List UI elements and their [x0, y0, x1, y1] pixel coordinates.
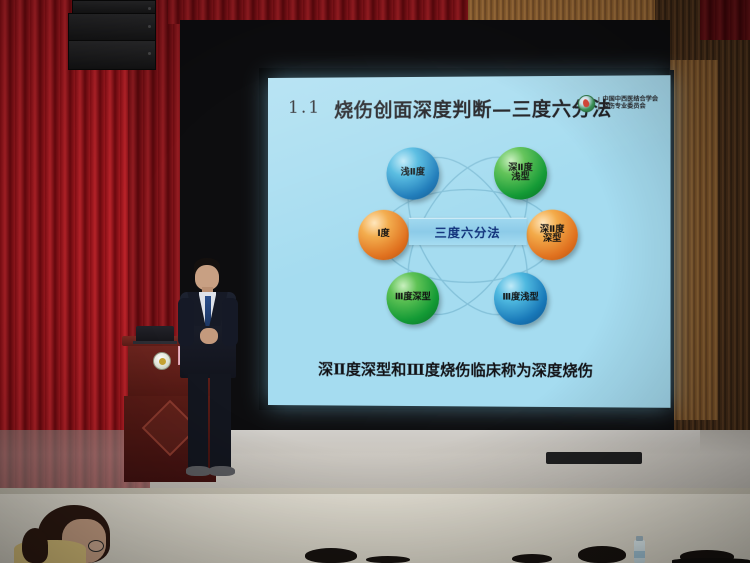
presenter-leg-left: [188, 374, 208, 470]
water-bottle-label: [634, 551, 645, 558]
node-3-du-qian-label: Ⅲ度浅型: [502, 294, 538, 304]
society-emblem-icon: [578, 95, 595, 112]
node-qian-2-du: 浅Ⅱ度: [387, 147, 440, 199]
presenter-shoe-right: [209, 466, 235, 476]
audience-member-2: [366, 556, 410, 563]
audience-shoulder-right: [672, 558, 750, 563]
institution-emblem: [153, 352, 171, 370]
slide-section-number: 1.1: [288, 98, 321, 118]
node-1-du-label: Ⅰ度: [377, 230, 389, 239]
audience-glasses-icon: [88, 540, 104, 552]
stage-floor-reflection: [180, 430, 700, 452]
node-3-du-shen-label: Ⅲ度深型: [395, 294, 431, 304]
presenter-laptop: [136, 326, 174, 342]
three-degree-six-type-diagram: 浅Ⅱ度 深Ⅱ度 浅型 深Ⅱ度 深型 Ⅰ度 Ⅲ度深型 Ⅲ度浅型: [352, 145, 584, 327]
presenter-shoe-left: [186, 466, 211, 476]
society-logo: 中国中西医结合学会 烧伤专业委员会: [578, 95, 658, 113]
node-shen-2-du-qian: 深Ⅱ度 浅型: [494, 147, 547, 200]
presenter-hands: [200, 328, 218, 344]
line-array-speaker-bottom: [68, 40, 156, 70]
slide-caption: 深Ⅱ度深型和Ⅲ度烧伤临床称为深度烧伤: [318, 358, 593, 381]
presenter: [176, 258, 248, 488]
society-logo-line2: 烧伤专业委员会: [602, 103, 658, 110]
diagram-center-banner: 三度六分法: [409, 218, 527, 245]
stage-floor-shadow-strip: [546, 452, 642, 464]
audience-member-4: [578, 546, 626, 563]
node-3-du-shen: Ⅲ度深型: [387, 272, 440, 324]
audience-member-woman-ponytail: [22, 528, 48, 563]
node-1-du: Ⅰ度: [358, 210, 408, 260]
node-shen-2-du-qian-label: 深Ⅱ度 浅型: [508, 164, 532, 183]
society-logo-text: 中国中西医结合学会 烧伤专业委员会: [602, 97, 658, 110]
node-shen-2-du-shen-label: 深Ⅱ度 深型: [540, 225, 565, 244]
water-bottle-cap: [636, 536, 643, 541]
logo-divider: [598, 97, 599, 110]
node-3-du-qian: Ⅲ度浅型: [494, 272, 547, 325]
photo-scene: 1.1 烧伤创面深度判断—三度六分法 中国中西医结合学会 烧伤专业委员会: [0, 0, 750, 563]
presentation-screen: 1.1 烧伤创面深度判断—三度六分法 中国中西医结合学会 烧伤专业委员会: [268, 75, 671, 408]
audience-member-3: [512, 554, 552, 563]
stage-apron-edge: [0, 488, 750, 494]
presenter-leg-right: [210, 374, 231, 470]
diagram-center-label: 三度六分法: [435, 223, 501, 240]
line-array-speaker-middle: [68, 13, 156, 43]
slide-title: 烧伤创面深度判断—三度六分法: [334, 94, 612, 123]
presenter-arm-right: [222, 298, 238, 346]
stage-curtain-right: [700, 0, 750, 40]
node-shen-2-du-shen: 深Ⅱ度 深型: [527, 210, 578, 261]
audience-member-1: [305, 548, 357, 563]
node-qian-2-du-label: 浅Ⅱ度: [401, 169, 425, 179]
presenter-laptop-base: [133, 341, 177, 344]
presenter-arm-left: [178, 298, 194, 346]
